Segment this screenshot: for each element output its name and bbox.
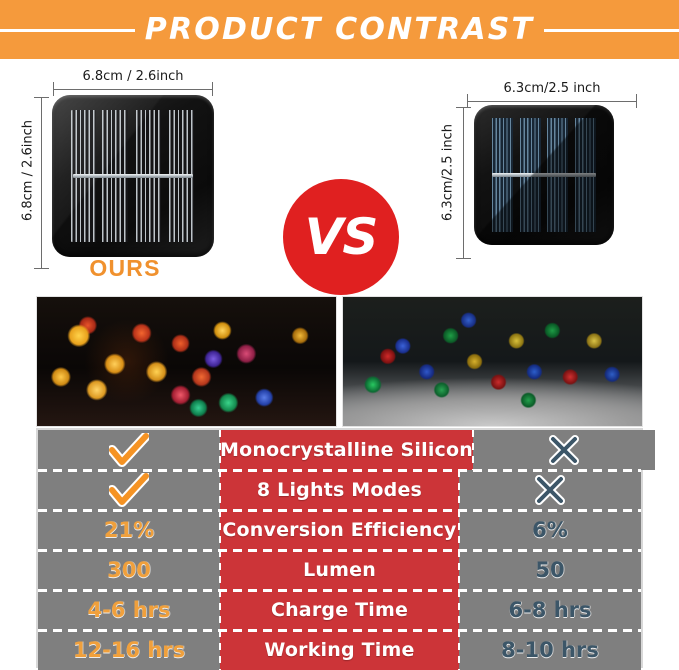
table-row: 4-6 hrsCharge Time6-8 hrs <box>38 590 641 630</box>
ours-value-cell <box>38 430 220 470</box>
others-value: 8-10 hrs <box>501 638 599 662</box>
dimension-line-vertical <box>41 97 42 269</box>
ours-value-cell <box>38 470 220 510</box>
ours-value: 4-6 hrs <box>87 598 170 622</box>
feature-label: Conversion Efficiency <box>222 519 456 541</box>
others-height-dimension: 6.3cm/2.5 inch <box>434 103 468 263</box>
feature-label: Monocrystalline Silicon <box>220 439 473 461</box>
others-value-cell: 6% <box>459 510 641 550</box>
banner-rule-left <box>0 29 135 32</box>
ours-height-dimension: 6.8cm / 2.6inch <box>10 93 46 273</box>
vs-label: VS <box>305 208 378 266</box>
others-value-cell <box>473 430 655 470</box>
feature-label: Charge Time <box>271 599 408 621</box>
others-value-cell: 6-8 hrs <box>459 590 641 630</box>
table-row: 8 Lights Modes <box>38 470 641 510</box>
ours-height-label: 6.8cm / 2.6inch <box>21 101 36 241</box>
check-icon <box>109 473 149 507</box>
feature-name-cell: Lumen <box>220 550 459 590</box>
vs-badge: VS <box>283 179 399 295</box>
ours-cell-array <box>67 110 200 243</box>
ours-width-dimension: 6.8cm / 2.6inch <box>53 69 213 91</box>
ours-value-cell: 300 <box>38 550 220 590</box>
comparison-table: Monocrystalline Silicon8 Lights Modes21%… <box>36 428 643 668</box>
solar-busbar <box>73 174 193 178</box>
others-value: 6-8 hrs <box>508 598 591 622</box>
others-cell-array <box>487 118 602 233</box>
ours-solar-panel-image <box>52 95 214 257</box>
banner-rule-right <box>544 29 679 32</box>
solar-busbar <box>492 173 595 177</box>
others-value-cell <box>459 470 641 510</box>
ours-width-label: 6.8cm / 2.6inch <box>53 69 213 84</box>
ours-value: 300 <box>107 558 151 582</box>
ours-panel-group: 6.8cm / 2.6inch 6.8cm / 2.6inch <box>8 65 238 287</box>
ours-value-cell: 12-16 hrs <box>38 630 220 670</box>
feature-name-cell: Working Time <box>220 630 459 670</box>
table-row: 21%Conversion Efficiency6% <box>38 510 641 550</box>
table-row: 300Lumen50 <box>38 550 641 590</box>
ours-value: 21% <box>104 518 154 542</box>
header-banner: PRODUCT CONTRAST <box>0 0 679 59</box>
page-title: PRODUCT CONTRAST <box>135 12 544 47</box>
others-panel-group: 6.3cm/2.5 inch 6.3cm/2.5 inch <box>430 75 660 290</box>
photo-strip <box>36 296 643 427</box>
cross-icon <box>534 474 566 506</box>
ours-string-lights-photo <box>36 296 337 427</box>
ours-value: 12-16 hrs <box>73 638 185 662</box>
others-value: 6% <box>532 518 568 542</box>
feature-name-cell: Monocrystalline Silicon <box>220 430 473 470</box>
table-row: Monocrystalline Silicon <box>38 430 641 470</box>
dimension-tick-right <box>636 94 637 108</box>
dimension-tick-top <box>34 97 49 98</box>
feature-name-cell: 8 Lights Modes <box>220 470 459 510</box>
others-value: 50 <box>535 558 564 582</box>
cross-icon <box>548 434 580 466</box>
dimension-tick-top <box>456 107 471 108</box>
feature-label: 8 Lights Modes <box>257 479 422 501</box>
ours-value-cell: 21% <box>38 510 220 550</box>
dimension-tick-bottom <box>456 258 471 259</box>
feature-name-cell: Conversion Efficiency <box>220 510 459 550</box>
feature-label: Working Time <box>264 639 414 661</box>
dimension-line-horizontal <box>467 101 637 102</box>
others-width-label: 6.3cm/2.5 inch <box>467 81 637 96</box>
feature-label: Lumen <box>303 559 376 581</box>
dimension-line-vertical <box>463 107 464 259</box>
others-height-label: 6.3cm/2.5 inch <box>441 103 456 243</box>
others-width-dimension: 6.3cm/2.5 inch <box>467 81 637 103</box>
ours-value-cell: 4-6 hrs <box>38 590 220 630</box>
check-icon <box>109 433 149 467</box>
panel-comparison-section: 6.8cm / 2.6inch 6.8cm / 2.6inch OURS VS <box>0 59 679 292</box>
dimension-tick-left <box>53 82 54 96</box>
dimension-tick-right <box>212 82 213 96</box>
dimension-line-horizontal <box>53 89 213 90</box>
others-value-cell: 8-10 hrs <box>459 630 641 670</box>
others-string-lights-photo <box>342 296 643 427</box>
ours-label: OURS <box>44 255 206 282</box>
others-solar-panel-image <box>474 105 614 245</box>
others-value-cell: 50 <box>459 550 641 590</box>
table-row: 12-16 hrsWorking Time8-10 hrs <box>38 630 641 670</box>
feature-name-cell: Charge Time <box>220 590 459 630</box>
